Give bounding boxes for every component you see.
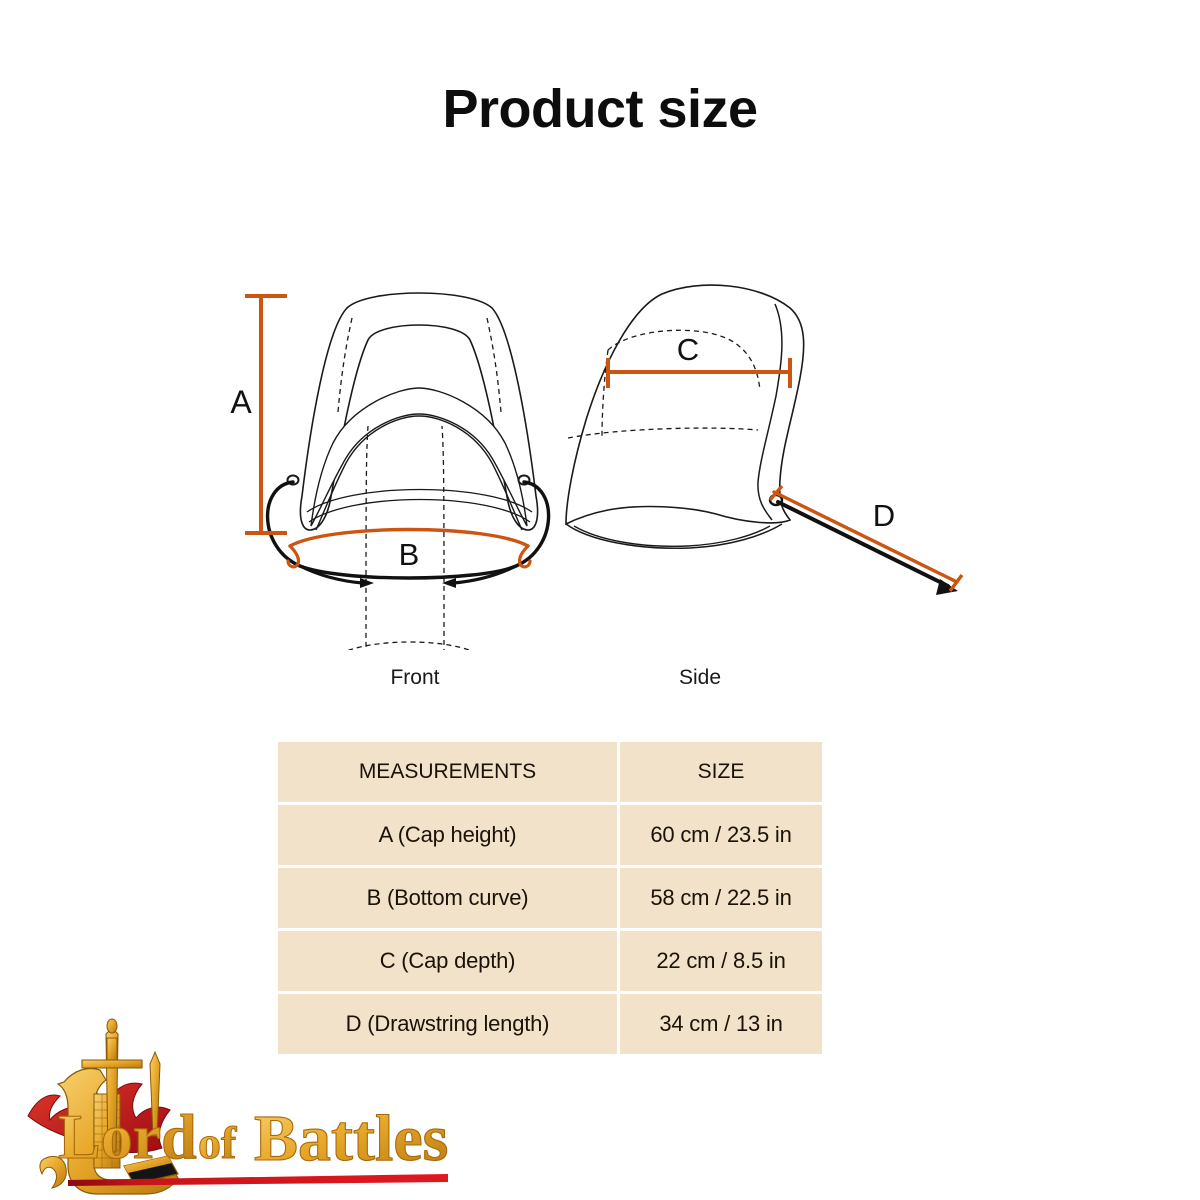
dimension-b-label: B xyxy=(399,537,420,572)
side-hood-outer-profile xyxy=(566,285,804,524)
diagram-svg: A B xyxy=(0,230,1200,650)
table-cell-size: 22 cm / 8.5 in xyxy=(620,931,822,991)
emblem-sword-pommel xyxy=(107,1019,117,1033)
front-face-panel-dashed-bottom xyxy=(340,642,478,650)
logo-word-lord: Lord xyxy=(58,1101,197,1172)
side-view-drawing: C D xyxy=(566,285,962,595)
table-row: C (Cap depth) 22 cm / 8.5 in xyxy=(278,931,822,991)
drawstring-cord xyxy=(778,502,948,586)
page-title: Product size xyxy=(0,78,1200,140)
logo-word-of: of xyxy=(198,1117,237,1168)
table-row: A (Cap height) 60 cm / 23.5 in xyxy=(278,805,822,865)
logo-word-battles: Battles xyxy=(254,1102,448,1175)
emblem-sword-grip xyxy=(107,1038,117,1060)
table-cell-measurement: A (Cap height) xyxy=(278,805,617,865)
table-cell-measurement: B (Bottom curve) xyxy=(278,868,617,928)
table-row: B (Bottom curve) 58 cm / 22.5 in xyxy=(278,868,822,928)
dimension-a-label: A xyxy=(230,384,252,420)
front-bottom-arrow-left-head xyxy=(360,578,374,588)
brand-logo: Lord of Battles xyxy=(2,1008,472,1198)
side-view-caption: Side xyxy=(615,666,785,690)
front-hem-lower-line xyxy=(309,500,530,523)
table-cell-size: 60 cm / 23.5 in xyxy=(620,805,822,865)
brand-wordmark: Lord of Battles xyxy=(58,1101,448,1175)
table-header-measurements: MEASUREMENTS xyxy=(278,742,617,802)
dimension-d-label: D xyxy=(873,498,895,533)
front-view-caption: Front xyxy=(330,666,500,690)
product-diagram: A B xyxy=(0,230,1200,650)
brand-logo-svg: Lord of Battles xyxy=(2,1008,472,1198)
logo-underline xyxy=(68,1174,448,1186)
front-face-panel-dashed-right xyxy=(442,426,444,650)
dimension-c-label: C xyxy=(677,332,699,367)
emblem-sword-crossguard xyxy=(82,1060,142,1068)
side-hem-inner xyxy=(574,526,770,546)
table-cell-measurement: C (Cap depth) xyxy=(278,931,617,991)
front-view-drawing: A B xyxy=(230,293,548,650)
table-cell-size: 34 cm / 13 in xyxy=(620,994,822,1054)
table-cell-size: 58 cm / 22.5 in xyxy=(620,868,822,928)
table-header-size: SIZE xyxy=(620,742,822,802)
table-header-row: MEASUREMENTS SIZE xyxy=(278,742,822,802)
dimension-d-tick-end xyxy=(950,575,962,591)
front-face-panel-dashed-left xyxy=(366,426,368,650)
dimension-d-line xyxy=(774,492,957,582)
